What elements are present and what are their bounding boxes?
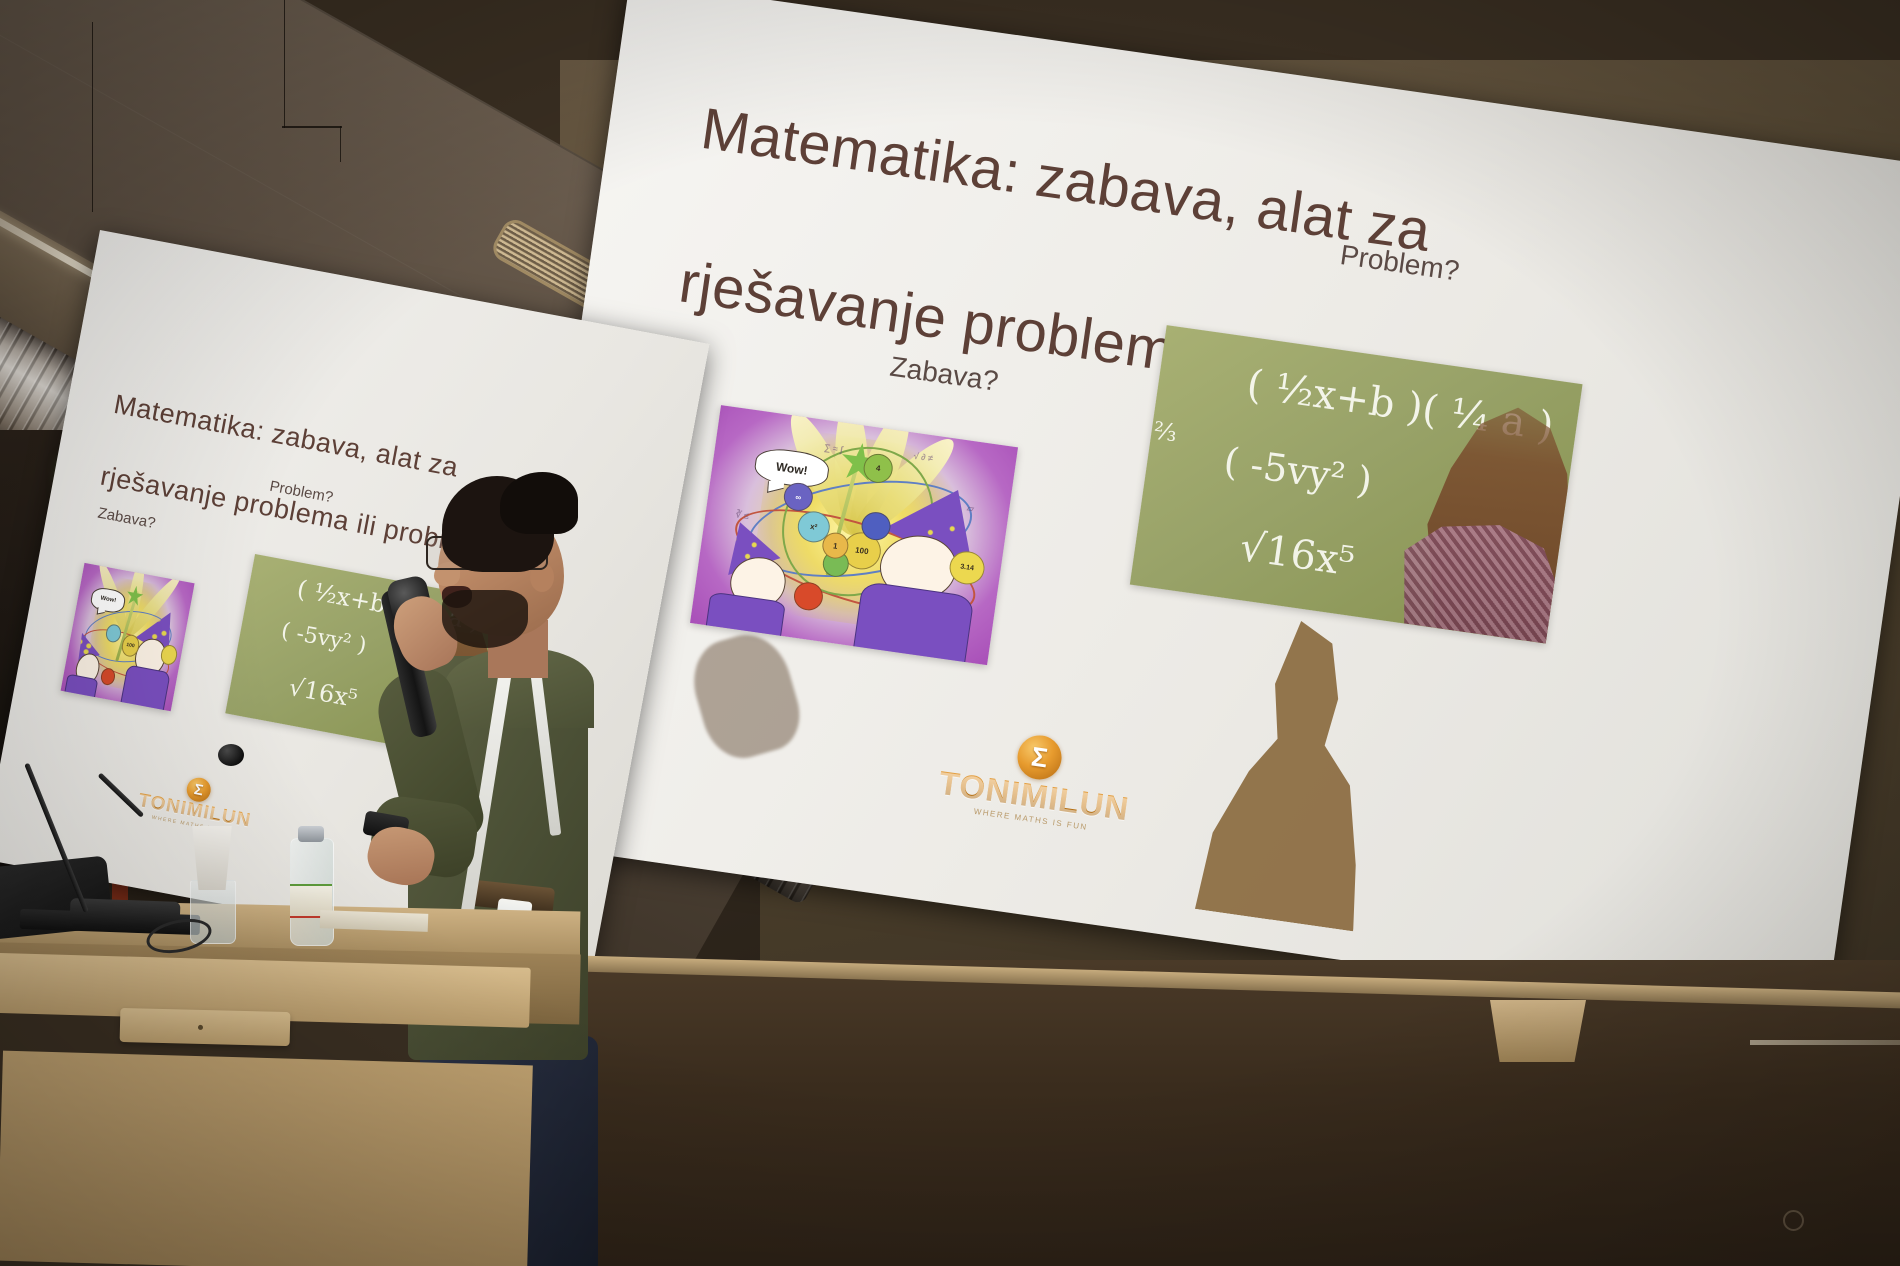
lecture-hall-photo: Matematika: zabava, alat za rješavanje p… [0,0,1900,1266]
chalk-line-3-small: √16x⁵ [287,673,360,713]
presenter-beard [442,590,528,648]
tonimilun-logo-big: Σ TONIMILUN WHERE MATHS IS FUN [916,719,1156,840]
presenter-hair-top [500,472,578,534]
screen-mount-bracket [1490,1000,1586,1062]
water-bottle-cap [298,826,324,842]
ceiling-hook [282,126,342,128]
audience-shadow-silhouette [1185,610,1396,931]
ceiling-wire-3 [340,126,341,162]
chalk-line-3: √16x⁵ [1237,524,1357,586]
wizards-cartoon-big: Wow! ∞ x² 100 3.14 4 1 ∑ ≈ ∫ √ ∂ ≠ ∛ ≤ ▱ [690,405,1018,665]
lower-wall [560,960,1900,1266]
podium-front-panel [0,1051,533,1266]
wall-fixture [1783,1210,1804,1231]
podium-control-panel[interactable] [120,1008,291,1046]
ceiling-wire-1 [92,22,93,212]
gooseneck-mic-capsule-icon [218,744,244,766]
papers-on-desk [320,910,429,932]
chalk-line-2: ( -5vy² ) [1221,439,1375,504]
wizards-cartoon-small: Wow! 100 [61,563,195,711]
wall-light-slit [1750,1040,1900,1045]
ceiling-wire-2 [284,0,285,128]
chalk-line-2-small: ( -5vy² ) [279,618,368,658]
